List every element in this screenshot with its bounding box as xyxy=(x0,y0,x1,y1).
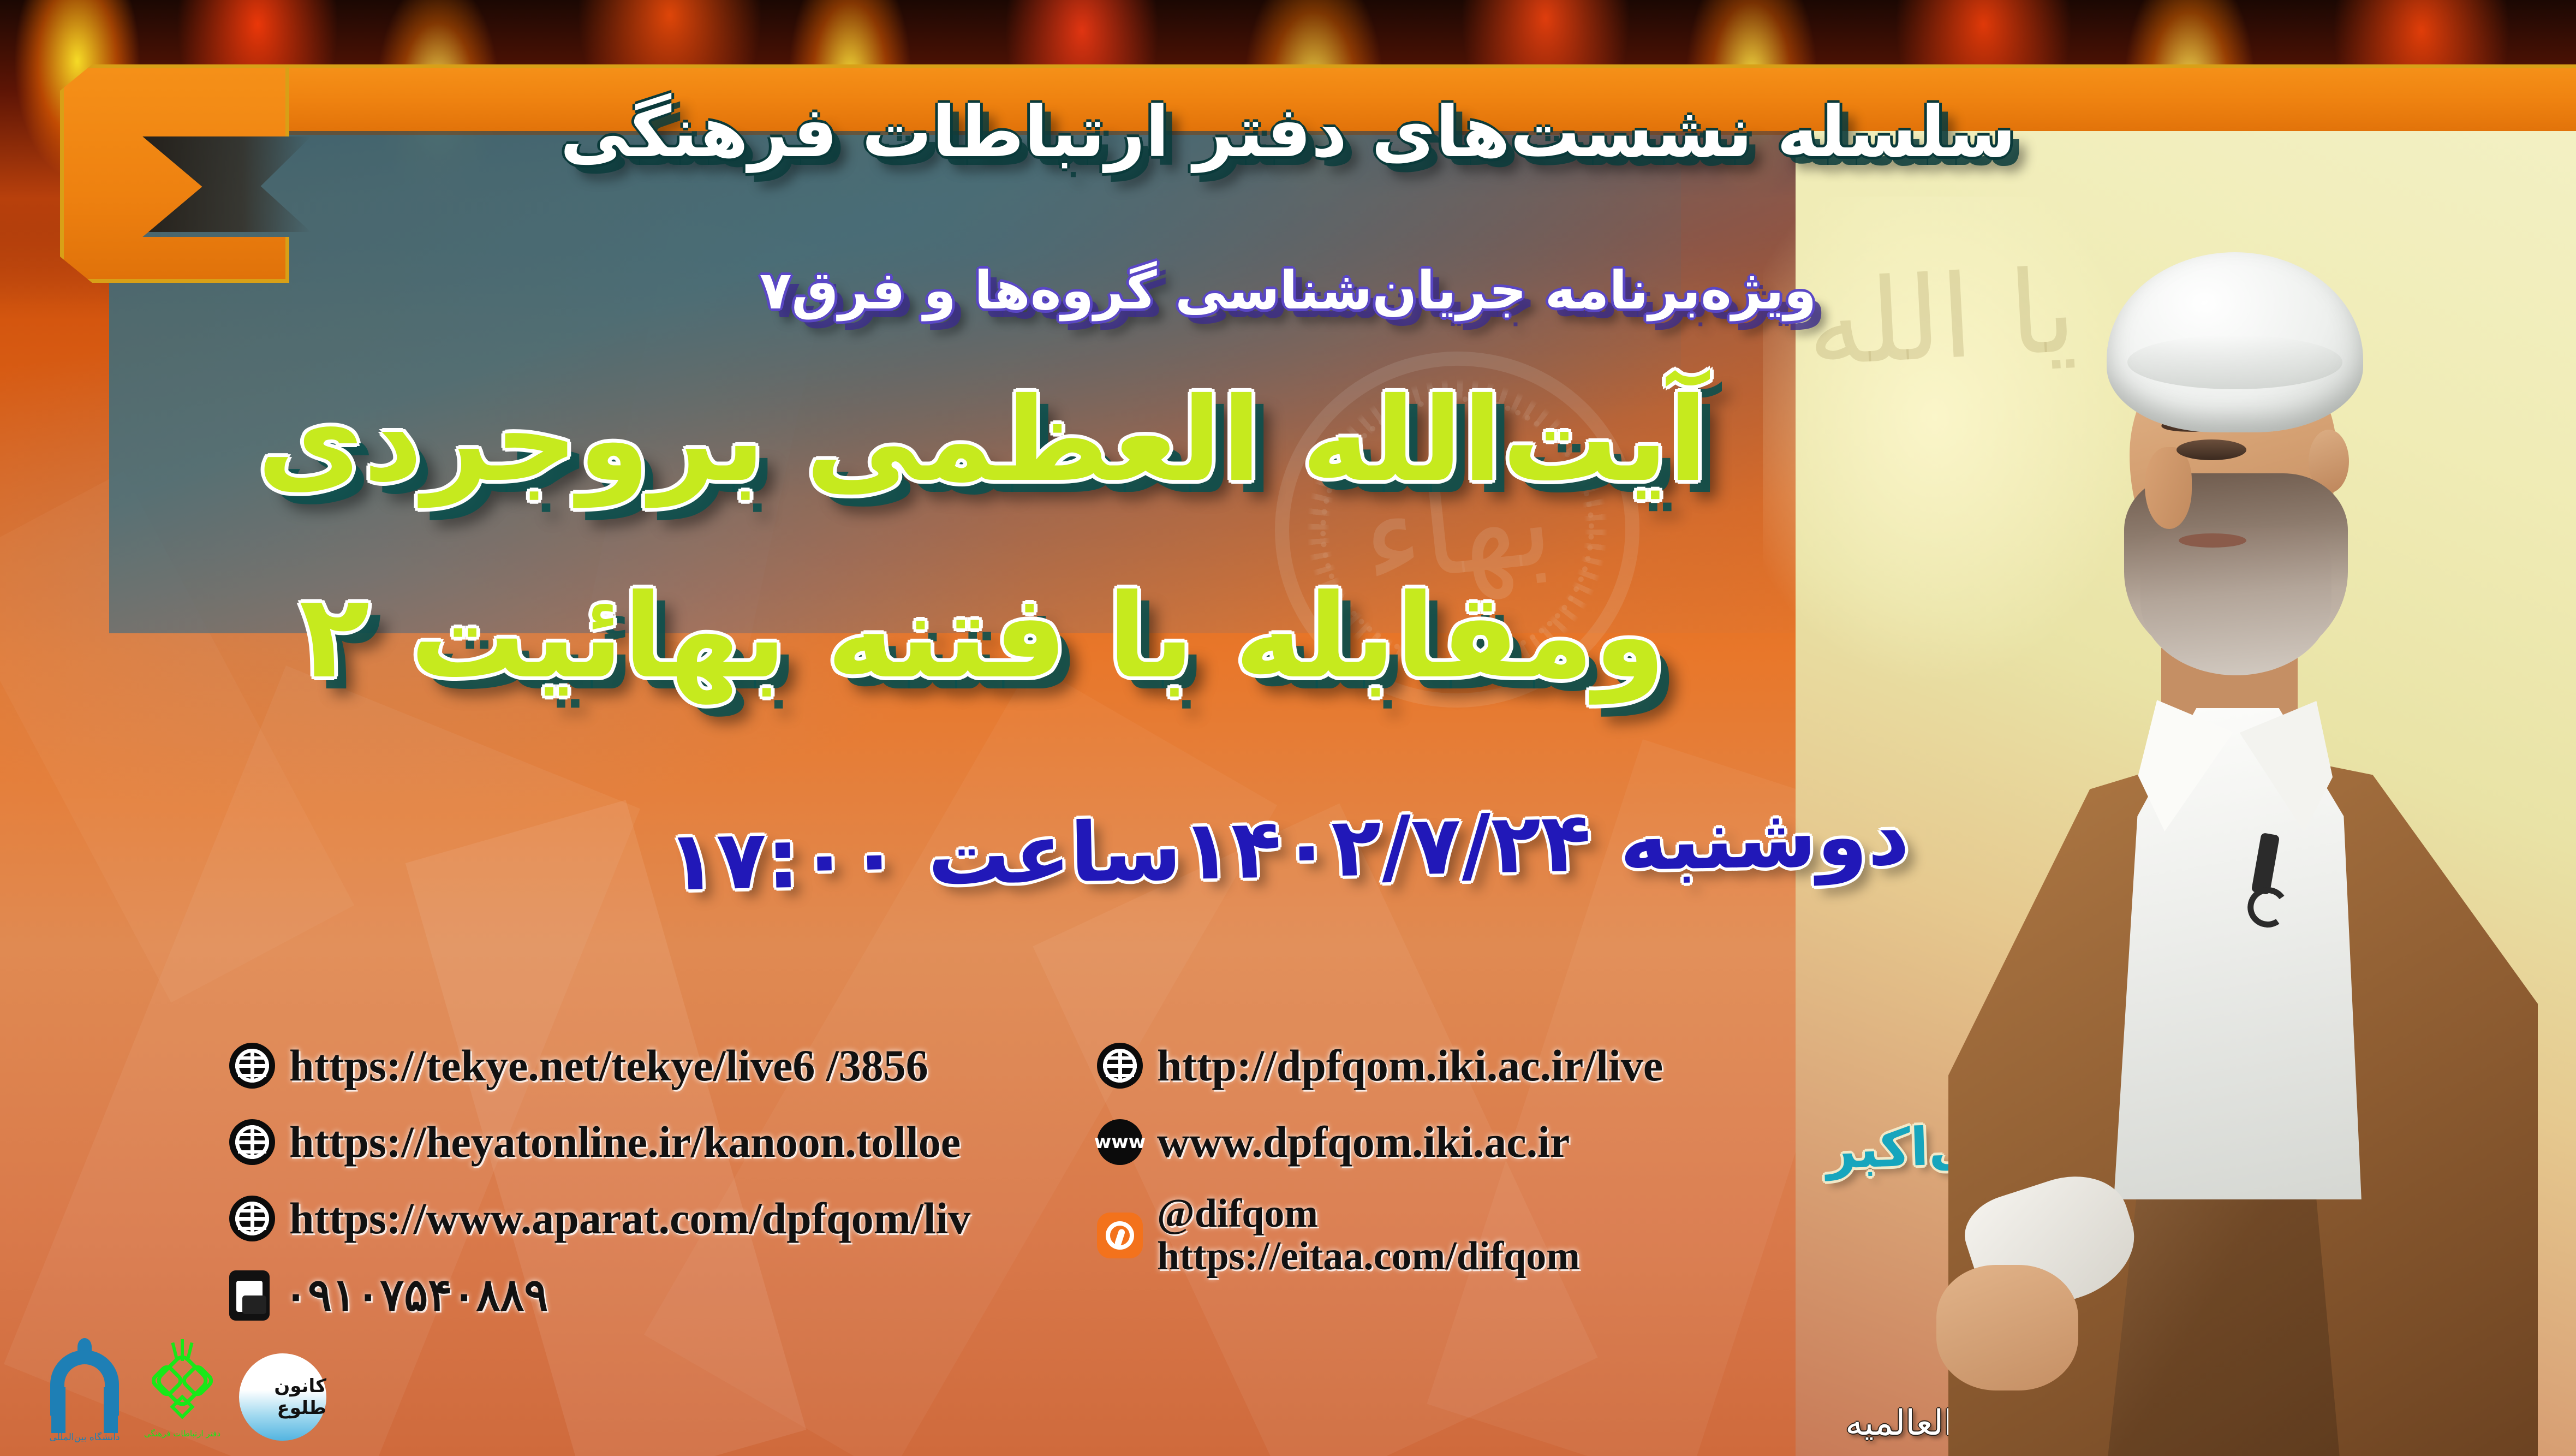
eitaa-link[interactable]: https://eitaa.com/difqom xyxy=(1157,1235,1580,1278)
eitaa-icon xyxy=(1097,1213,1143,1258)
series-title: سلسله نشست‌های دفتر ارتباطات فرهنگی xyxy=(0,92,2576,173)
globe-icon xyxy=(229,1043,275,1089)
contact-row-phone[interactable]: ۰۹۱۰۷۵۴۰۸۸۹ xyxy=(229,1269,1048,1321)
headline-line-2: ومقابله با فتنه بهائیت ۲ xyxy=(142,579,1823,694)
contact-row[interactable]: http://dpfqom.iki.ac.ir/live xyxy=(1097,1040,1752,1091)
eye xyxy=(2177,439,2246,460)
globe-icon xyxy=(229,1119,275,1165)
contact-row[interactable]: https://heyatonline.ir/kanoon.tolloe xyxy=(229,1116,1048,1168)
headline-line-1: آیت‌الله العظمی بروجردی xyxy=(142,382,1823,498)
event-poster: بهاء یا الله حجت‌الاسلام xyxy=(0,0,2576,1456)
globe-icon xyxy=(229,1196,275,1241)
hand xyxy=(1936,1265,2078,1390)
link-text[interactable]: https://www.aparat.com/dpfqom/liv xyxy=(289,1193,970,1244)
tolou-logo-text: کانون طلوع xyxy=(239,1375,326,1419)
mobile-phone-icon xyxy=(229,1270,270,1321)
kanoon-tolou-logo: کانون طلوع xyxy=(239,1353,326,1441)
contact-column-right: http://dpfqom.iki.ac.ir/live www www.dpf… xyxy=(1097,1040,1752,1303)
contact-row-eitaa[interactable]: @difqom https://eitaa.com/difqom xyxy=(1097,1193,1752,1277)
university-arch-logo: دانشگاه بین‌المللی xyxy=(44,1337,126,1441)
beard-highlight xyxy=(2140,528,2331,675)
www-globe-icon: www xyxy=(1097,1119,1143,1165)
link-text[interactable]: http://dpfqom.iki.ac.ir/live xyxy=(1157,1040,1663,1091)
partner-logos: دانشگاه بین‌المللی دفتر ارتباطات فرهنگی … xyxy=(44,1337,326,1441)
arch-logo-caption: دانشگاه بین‌المللی xyxy=(44,1432,126,1443)
mouth xyxy=(2179,533,2246,548)
knot-logo-caption: دفتر ارتباطات فرهنگی xyxy=(144,1429,220,1439)
link-text[interactable]: https://heyatonline.ir/kanoon.tolloe xyxy=(289,1116,961,1168)
phone-number[interactable]: ۰۹۱۰۷۵۴۰۸۸۹ xyxy=(284,1269,548,1321)
nose xyxy=(2145,447,2192,529)
contact-column-left: https://tekye.net/tekye/live6 /3856 http… xyxy=(229,1040,1048,1346)
eitaa-handle[interactable]: @difqom xyxy=(1157,1193,1580,1235)
link-text[interactable]: www.dpfqom.iki.ac.ir xyxy=(1157,1116,1570,1168)
contact-row[interactable]: https://www.aparat.com/dpfqom/liv xyxy=(229,1193,1048,1244)
contact-row[interactable]: https://tekye.net/tekye/live6 /3856 xyxy=(229,1040,1048,1091)
globe-icon xyxy=(1097,1043,1143,1089)
contact-row[interactable]: www www.dpfqom.iki.ac.ir xyxy=(1097,1116,1752,1168)
link-text[interactable]: https://tekye.net/tekye/live6 /3856 xyxy=(289,1040,928,1091)
islamic-knot-logo: دفتر ارتباطات فرهنگی xyxy=(150,1337,215,1441)
